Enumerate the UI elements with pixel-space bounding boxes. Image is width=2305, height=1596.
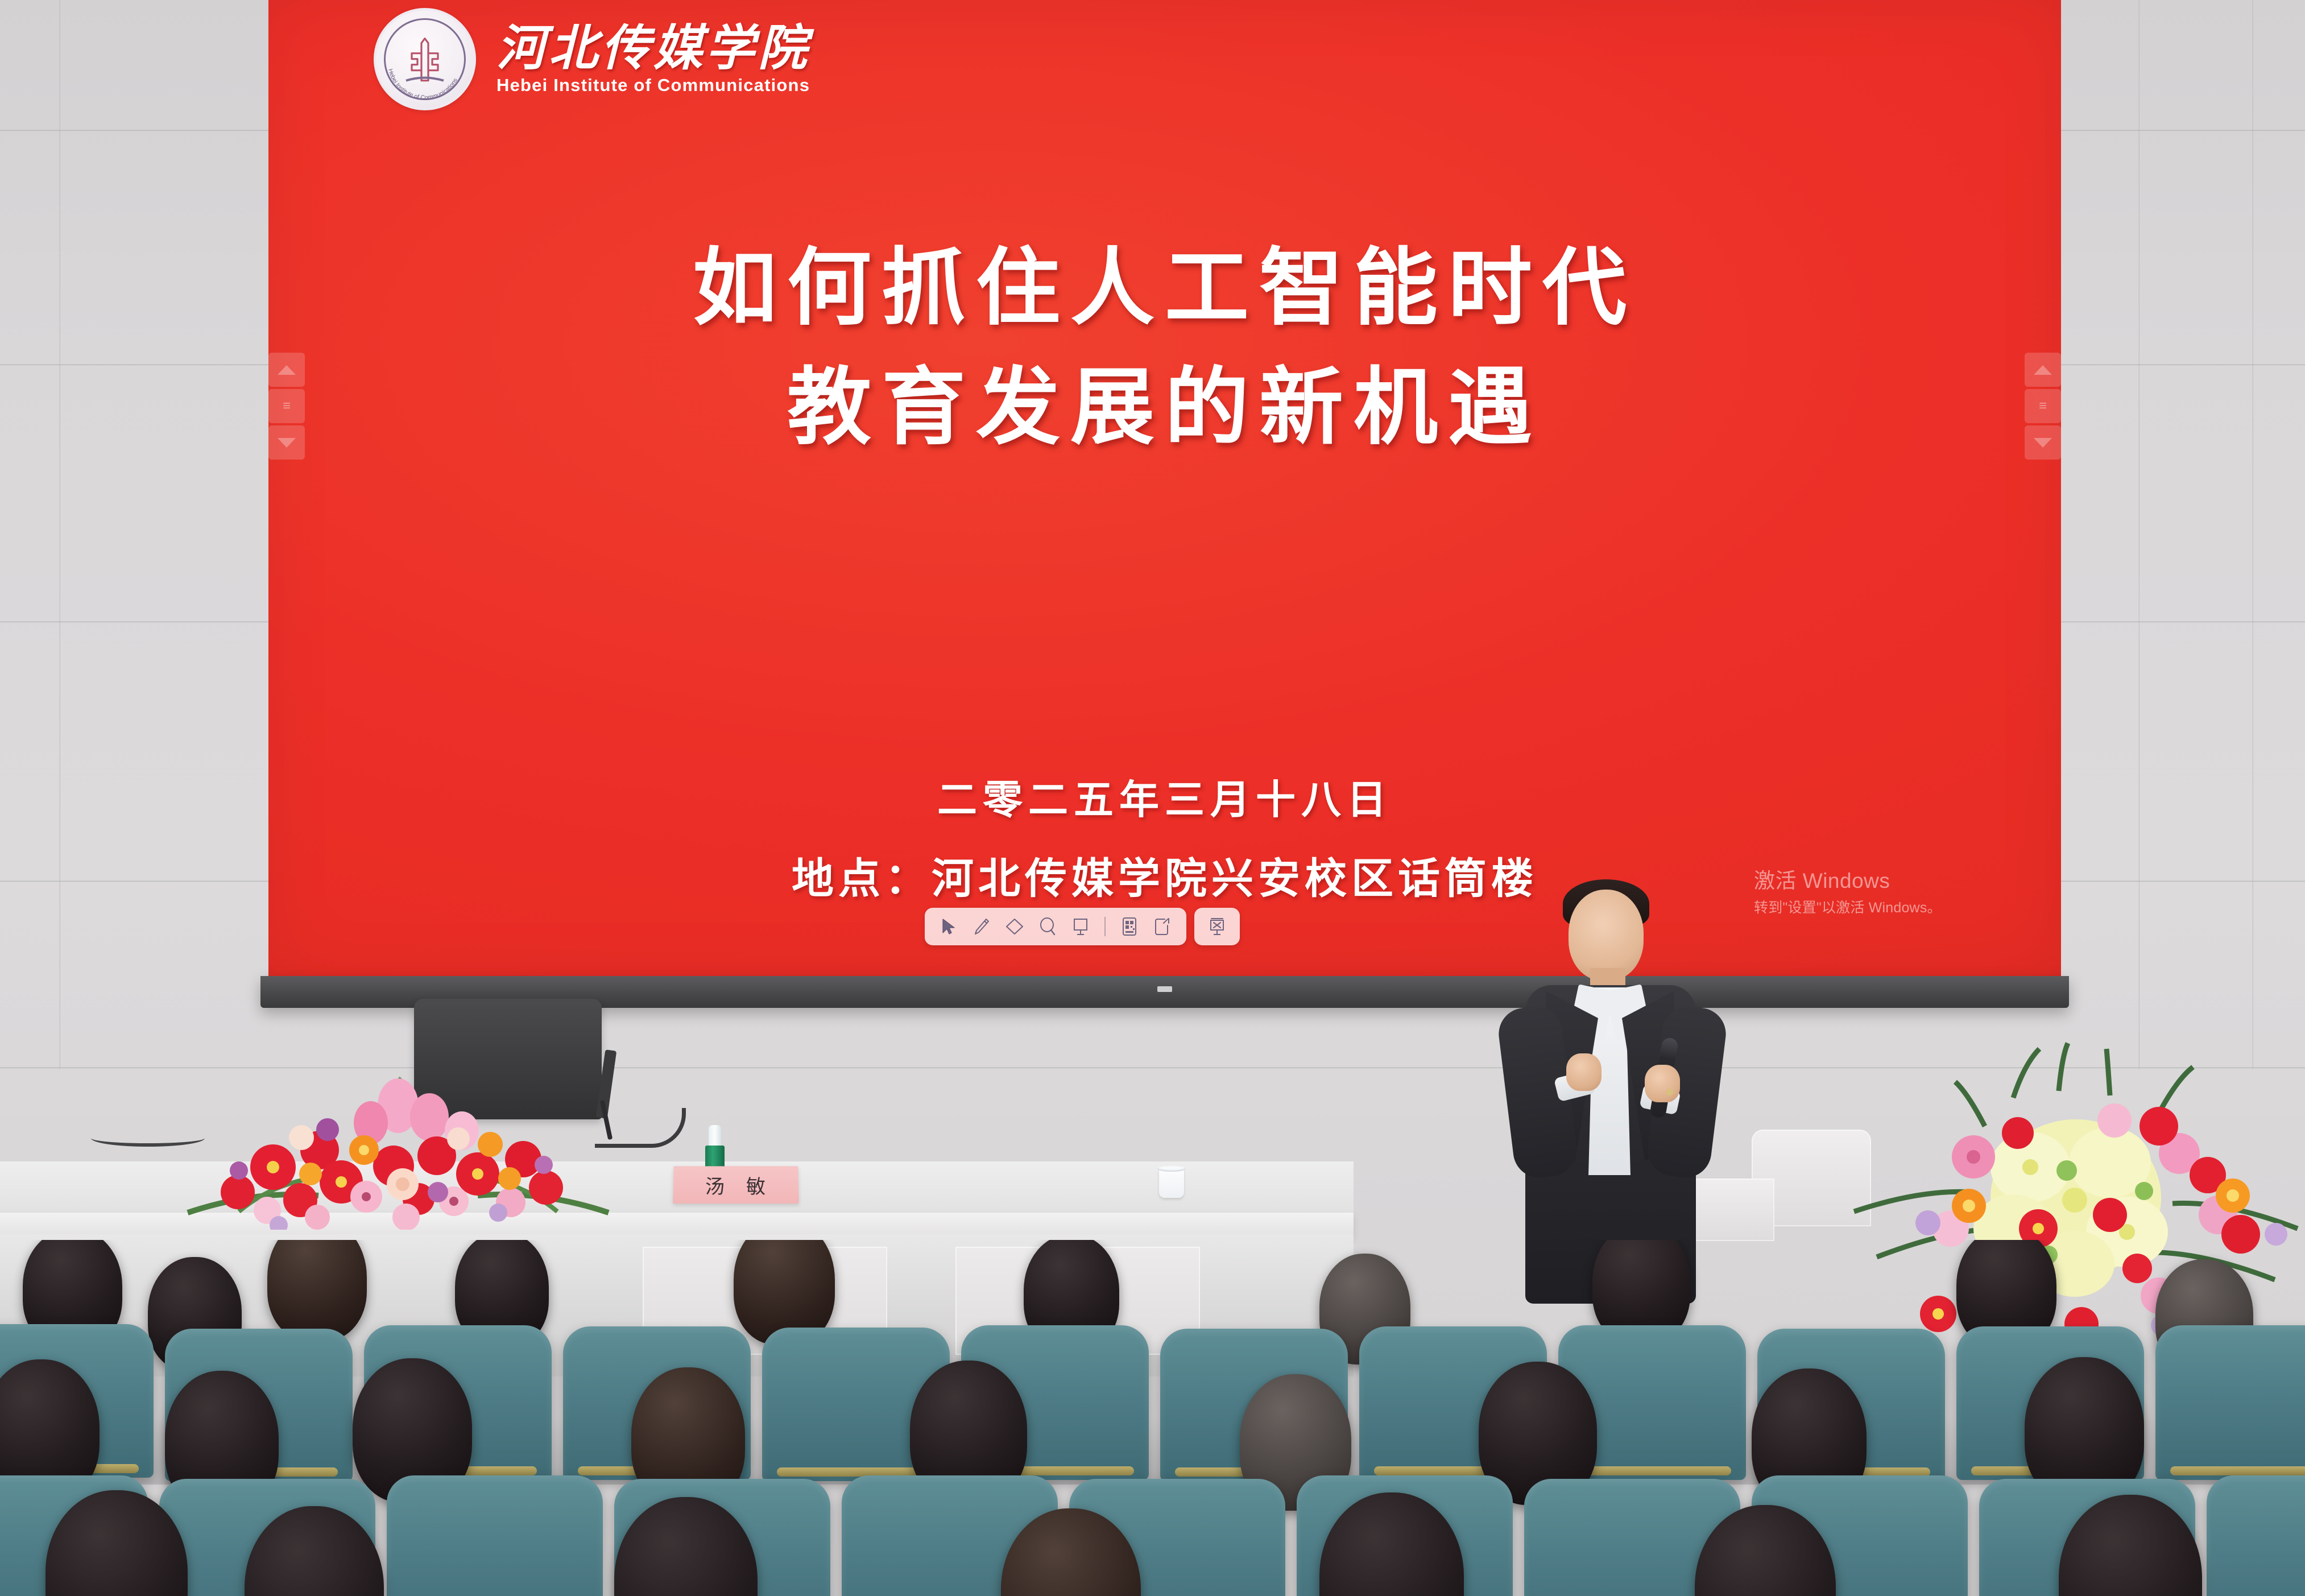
chevron-up-icon <box>2034 365 2052 375</box>
presentation-slide: Hebei Institute of Communications 河北传媒学院… <box>268 0 2061 978</box>
auditorium-photo: Hebei Institute of Communications 河北传媒学院… <box>0 0 2305 1596</box>
pen-icon <box>973 917 990 936</box>
speaker-hand <box>1566 1053 1602 1091</box>
screen-left-down-button[interactable] <box>268 425 305 460</box>
slide-meta: 二零二五年三月十八日 地点：河北传媒学院兴安校区话筒楼 <box>268 768 2061 905</box>
chevron-up-icon <box>278 365 296 375</box>
slide-date: 二零二五年三月十八日 <box>268 768 2061 825</box>
svg-text:Hebei Institute of Communicati: Hebei Institute of Communications <box>387 68 459 101</box>
magnifier-icon <box>1039 917 1056 936</box>
qrcode-tool-button[interactable] <box>1115 912 1144 941</box>
menu-icon: ≡ <box>2039 398 2047 414</box>
exit-slideshow-icon <box>1208 917 1226 936</box>
slide-venue: 地点：河北传媒学院兴安校区话筒楼 <box>268 845 2061 905</box>
university-seal-icon: Hebei Institute of Communications <box>374 8 476 110</box>
exit-button-inner[interactable] <box>1202 912 1232 941</box>
chevron-down-icon <box>2034 438 2052 448</box>
flower-arrangement-left <box>171 1070 626 1230</box>
slide-title-line-2: 教育发展的新机遇 <box>268 347 2061 466</box>
speaker-ring <box>1666 1089 1673 1095</box>
flower-cluster-icon <box>171 1070 626 1230</box>
menu-icon: ≡ <box>283 398 291 414</box>
screen-right-control-pad[interactable]: ≡ <box>2025 353 2061 460</box>
slide-title-line-1: 如何抓住人工智能时代 <box>268 228 2061 347</box>
cursor-icon <box>941 918 956 935</box>
screen-right-up-button[interactable] <box>2025 353 2061 387</box>
university-logo: Hebei Institute of Communications 河北传媒学院… <box>374 8 810 110</box>
screen-left-control-pad[interactable]: ≡ <box>268 353 305 460</box>
annotation-tool-group[interactable] <box>925 908 1186 945</box>
audience-seat <box>2155 1325 2305 1480</box>
qrcode-icon <box>1122 917 1137 936</box>
bottle-neck <box>709 1125 721 1148</box>
screen-right-menu-button[interactable]: ≡ <box>2025 389 2061 423</box>
projection-screen[interactable]: Hebei Institute of Communications 河北传媒学院… <box>268 0 2061 1008</box>
nameplate-surname: 汤 <box>705 1171 726 1199</box>
audience-seat <box>387 1475 603 1596</box>
wall-seam <box>2138 0 2140 1069</box>
share-tool-button[interactable] <box>1148 912 1177 941</box>
screen-left-menu-button[interactable]: ≡ <box>268 389 305 423</box>
chevron-down-icon <box>278 438 296 448</box>
eraser-tool-button[interactable] <box>1000 912 1029 941</box>
wall-seam <box>2252 0 2254 1069</box>
seal-arc-text: Hebei Institute of Communications <box>376 10 474 108</box>
logo-english-name: Hebei Institute of Communications <box>496 75 810 96</box>
nameplate-given: 敏 <box>746 1171 767 1199</box>
cursor-tool-button[interactable] <box>934 912 963 941</box>
whiteboard-tool-button[interactable] <box>1066 912 1095 941</box>
audience-seat <box>2207 1475 2305 1596</box>
share-icon <box>1154 917 1170 936</box>
toolbar-divider <box>1104 917 1106 936</box>
magnifier-tool-button[interactable] <box>1033 912 1062 941</box>
wall-seam <box>59 0 61 1069</box>
annotation-toolbar[interactable] <box>925 908 1240 945</box>
screen-right-down-button[interactable] <box>2025 425 2061 460</box>
seal-arc-label: Hebei Institute of Communications <box>387 68 459 101</box>
pen-tool-button[interactable] <box>967 912 996 941</box>
audience-head <box>267 1240 367 1341</box>
audience-seating <box>0 1240 2305 1596</box>
teacup <box>1159 1168 1184 1198</box>
slide-surface: Hebei Institute of Communications 河北传媒学院… <box>268 0 2061 978</box>
speaker-hand <box>1645 1065 1680 1102</box>
screen-power-led-icon <box>1157 986 1172 992</box>
whiteboard-icon <box>1071 917 1090 936</box>
logo-chinese-name: 河北传媒学院 <box>496 23 810 74</box>
speaker-head <box>1569 890 1644 981</box>
eraser-icon <box>1005 918 1024 935</box>
exit-presentation-button[interactable] <box>1194 908 1240 945</box>
screen-left-up-button[interactable] <box>268 353 305 387</box>
name-plate: 汤 敏 <box>673 1166 798 1204</box>
slide-title: 如何抓住人工智能时代 教育发展的新机遇 <box>268 228 2061 466</box>
